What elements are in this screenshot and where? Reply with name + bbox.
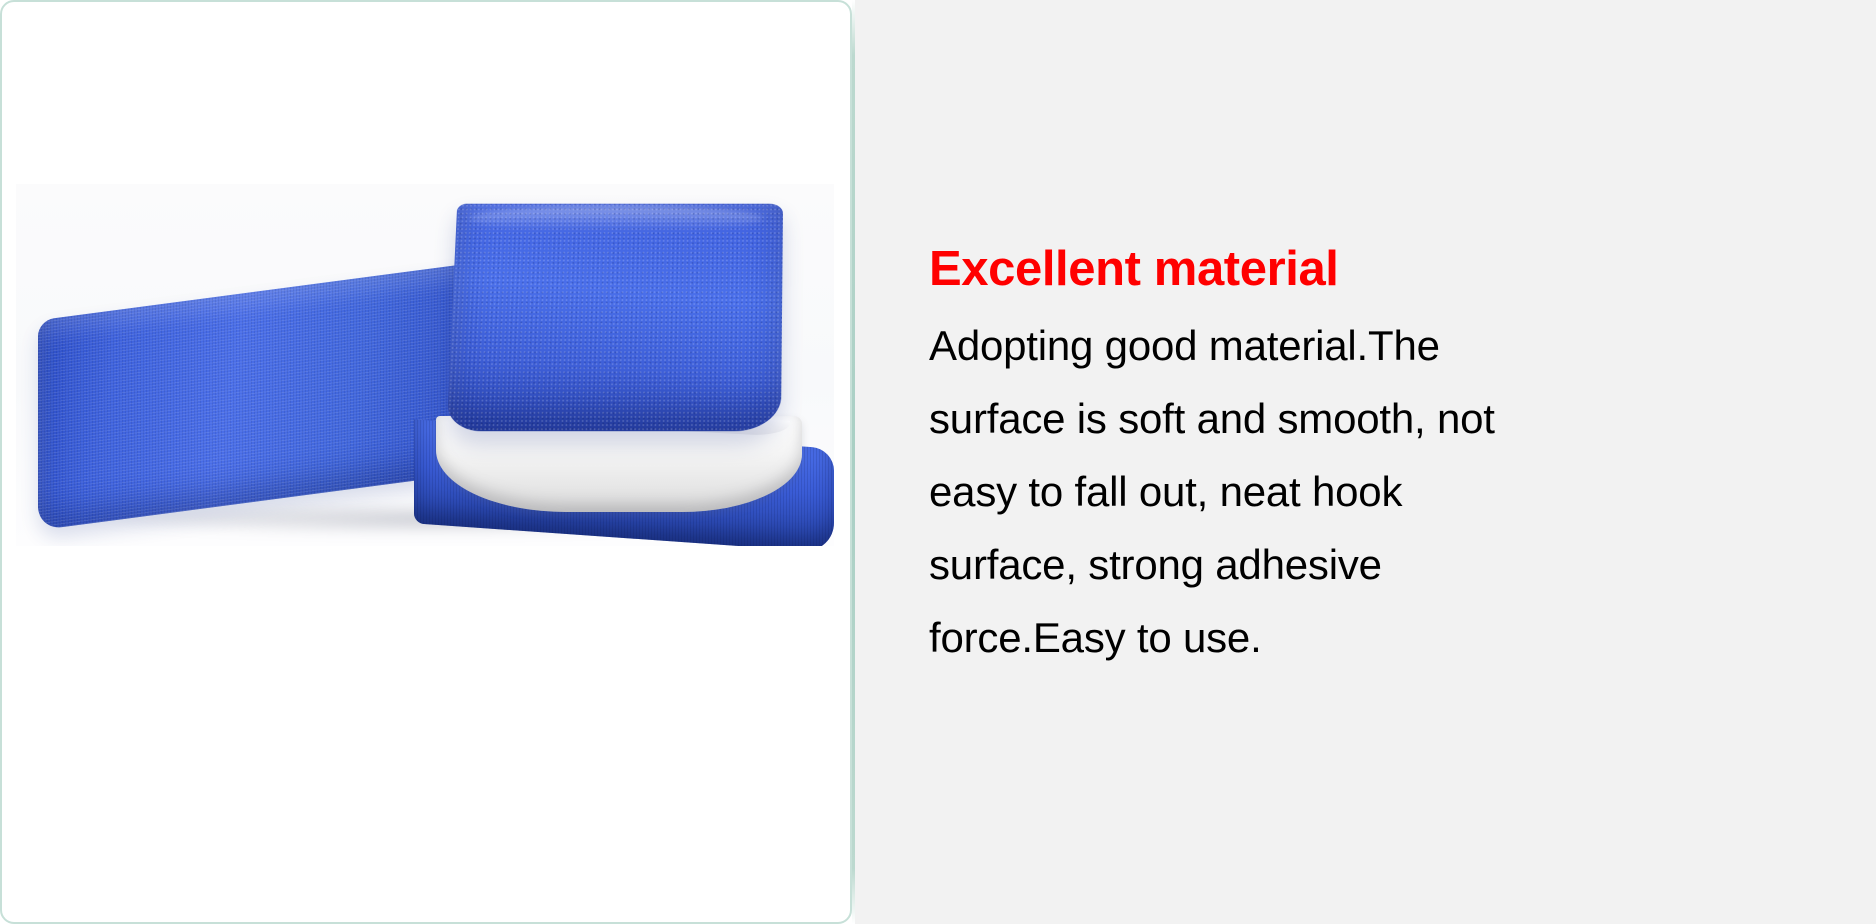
product-image-panel — [0, 0, 852, 924]
feature-heading: Excellent material — [929, 244, 1876, 295]
velcro-loop-face — [447, 204, 783, 431]
feature-description-line: surface, strong adhesive — [929, 528, 1876, 601]
feature-description-line: Adopting good material.The — [929, 309, 1876, 382]
feature-description: Adopting good material.The surface is so… — [929, 309, 1876, 674]
feature-description-line: force.Easy to use. — [929, 601, 1876, 674]
feature-description-line: surface is soft and smooth, not — [929, 382, 1876, 455]
feature-description-line: easy to fall out, neat hook — [929, 455, 1876, 528]
product-illustration — [16, 184, 834, 546]
feature-text-panel: Excellent material Adopting good materia… — [855, 0, 1876, 924]
strap-tail — [38, 264, 468, 531]
product-photo — [16, 184, 834, 546]
product-feature-card: Excellent material Adopting good materia… — [0, 0, 1876, 924]
